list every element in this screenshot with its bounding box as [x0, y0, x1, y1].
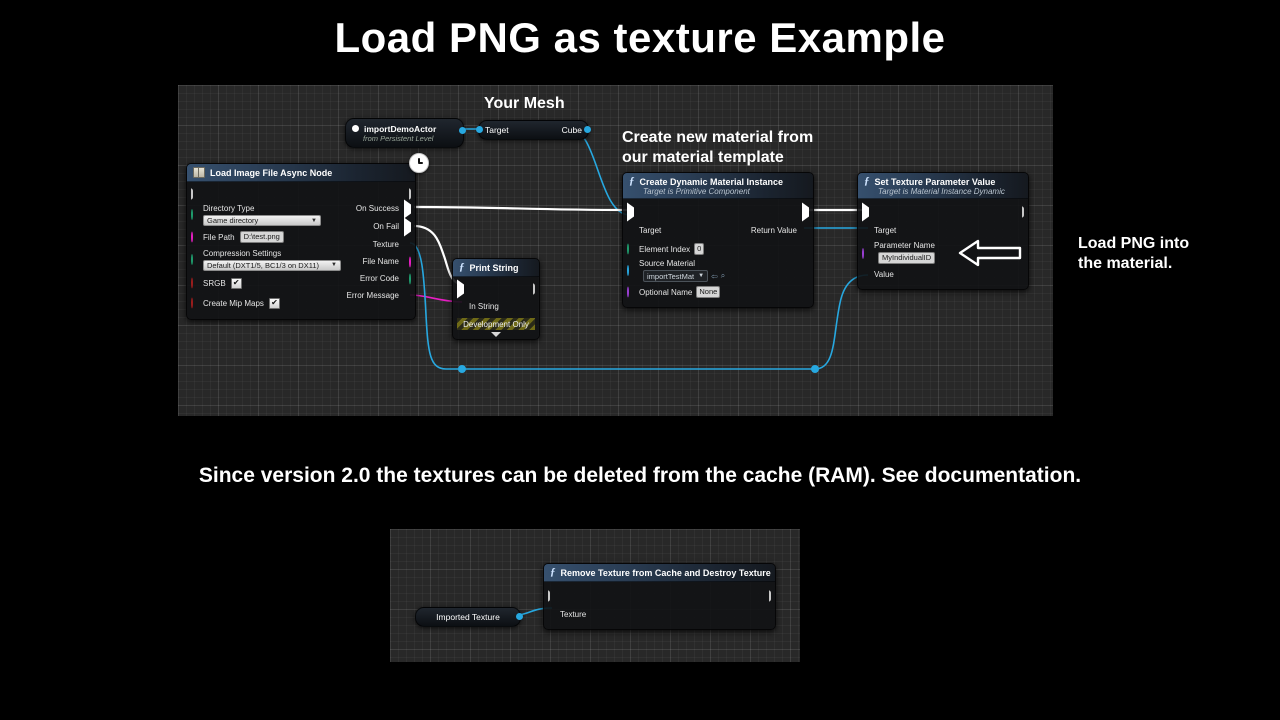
print-string-title: Print String — [470, 263, 519, 273]
cdmi-source-material-label: Source Material — [639, 259, 695, 268]
create-mip-maps-pin[interactable] — [191, 299, 193, 308]
output-row-file-name: File Name — [319, 253, 415, 270]
annotation-create-material-line1: Create new material from — [622, 128, 852, 148]
print-string-body: In String Development Only — [453, 277, 539, 339]
print-string-exec-out-pin[interactable] — [533, 285, 535, 294]
error-message-label: Error Message — [347, 291, 399, 300]
srgb-label: SRGB — [203, 279, 226, 288]
remove-texture-body: Texture — [544, 582, 775, 629]
on-fail-pin[interactable] — [404, 222, 411, 231]
print-string-exec-in-pin[interactable] — [457, 285, 464, 294]
node-create-dynamic-material-instance[interactable]: ƒ Create Dynamic Material Instance Targe… — [622, 172, 814, 308]
node-remove-texture-from-cache[interactable]: ƒ Remove Texture from Cache and Destroy … — [543, 563, 776, 630]
error-code-pin[interactable] — [409, 274, 411, 283]
cube-out-pin[interactable] — [584, 126, 591, 133]
cdmi-source-material-pin[interactable] — [627, 266, 629, 275]
create-mip-maps-label: Create Mip Maps — [203, 299, 264, 308]
file-path-label: File Path — [203, 233, 235, 242]
input-row-directory-type: Directory Type Game directory ▼ — [187, 202, 327, 228]
srgb-checkbox[interactable]: ✔ — [231, 278, 242, 289]
cdmi-target-label: Target — [623, 226, 661, 235]
imported-texture-label: Imported Texture — [436, 612, 500, 622]
white-dot-icon — [352, 125, 359, 132]
cdmi-element-index-input[interactable]: 0 — [694, 243, 704, 255]
import-demo-actor-out-pin[interactable] — [459, 127, 466, 134]
file-path-pin[interactable] — [191, 233, 193, 242]
cdmi-source-material-combo[interactable]: importTestMat ▼ — [643, 270, 708, 282]
cdmi-element-index-pin[interactable] — [627, 245, 629, 254]
set-texture-param-subtitle: Target is Material Instance Dynamic — [864, 187, 1005, 196]
set-texture-param-header: ƒ Set Texture Parameter Value Target is … — [858, 173, 1028, 199]
file-name-label: File Name — [363, 257, 399, 266]
annotation-create-material-line2: our material template — [622, 148, 852, 168]
cdmi-return-value-label: Return Value — [751, 226, 797, 235]
cube-out-label: Cube — [562, 125, 582, 135]
compression-settings-pin[interactable] — [191, 255, 193, 264]
print-string-in-string-row: In String — [453, 297, 539, 315]
compression-settings-value: Default (DXT1/5, BC1/3 on DX11) — [207, 261, 319, 270]
load-image-node-header: Load Image File Async Node — [187, 164, 415, 182]
file-name-pin[interactable] — [409, 257, 411, 266]
remove-texture-texture-row: Texture — [544, 605, 775, 623]
cube-target-label: Target — [485, 125, 509, 135]
exec-out-pin[interactable] — [409, 190, 411, 199]
on-fail-label: On Fail — [373, 222, 399, 231]
on-success-label: On Success — [356, 204, 399, 213]
function-icon: ƒ — [459, 262, 465, 273]
cdmi-exec-out-pin[interactable] — [802, 208, 809, 217]
footnote-text: Since version 2.0 the textures can be de… — [0, 464, 1280, 488]
output-row-error-code: Error Code — [319, 270, 415, 287]
annotation-load-png-line2: the material. — [1078, 254, 1268, 274]
remove-texture-exec-out-pin[interactable] — [769, 591, 771, 600]
stpv-exec-out-pin[interactable] — [1022, 208, 1024, 217]
pointer-arrow-icon — [958, 238, 1022, 268]
node-import-demo-actor[interactable]: importDemoActor from Persistent Level — [345, 118, 464, 148]
blueprint-canvas-main[interactable]: importDemoActor from Persistent Level Ta… — [178, 85, 1053, 416]
cdmi-source-material-value: importTestMat — [647, 272, 694, 281]
stpv-parameter-name-pin[interactable] — [862, 249, 864, 258]
import-demo-actor-sublabel: from Persistent Level — [352, 134, 433, 143]
create-dynamic-material-header: ƒ Create Dynamic Material Instance Targe… — [623, 173, 813, 199]
directory-type-value: Game directory — [207, 216, 258, 225]
print-string-exec-row — [453, 281, 539, 297]
annotation-load-png-line1: Load PNG into — [1078, 234, 1268, 254]
remove-texture-exec-in-pin[interactable] — [548, 591, 550, 600]
chevron-down-icon: ▼ — [311, 218, 317, 224]
cdmi-element-index-label: Element Index — [639, 245, 690, 254]
stpv-target-label: Target — [874, 226, 896, 235]
cdmi-optional-name-row: Optional Name None — [623, 283, 813, 301]
annotation-create-material: Create new material from our material te… — [622, 128, 852, 168]
cdmi-exec-in-pin[interactable] — [627, 208, 634, 217]
node-cube-component[interactable]: Target Cube — [478, 120, 589, 140]
file-path-input[interactable]: D:\test.png — [240, 231, 284, 243]
set-texture-param-title-row: ƒ Set Texture Parameter Value — [864, 176, 995, 187]
blueprint-canvas-bottom[interactable]: Imported Texture ƒ Remove Texture from C… — [390, 529, 800, 662]
annotation-your-mesh: Your Mesh — [484, 95, 565, 113]
in-string-label: In String — [469, 302, 499, 311]
srgb-pin[interactable] — [191, 279, 193, 288]
exec-in-pin[interactable] — [191, 190, 193, 199]
remove-texture-header: ƒ Remove Texture from Cache and Destroy … — [544, 564, 775, 582]
stpv-exec-in-pin[interactable] — [862, 208, 869, 217]
cdmi-target-row: Target Return Value — [623, 221, 813, 240]
remove-texture-exec-row — [544, 586, 775, 605]
input-row-srgb: SRGB ✔ — [187, 273, 327, 293]
development-only-banner: Development Only — [457, 318, 535, 330]
cdmi-element-index-row: Element Index 0 — [623, 240, 813, 258]
cube-target-in-pin[interactable] — [476, 126, 483, 133]
remove-texture-title: Remove Texture from Cache and Destroy Te… — [561, 568, 771, 578]
node-set-texture-parameter-value[interactable]: ƒ Set Texture Parameter Value Target is … — [857, 172, 1029, 290]
stpv-exec-row — [858, 203, 1028, 221]
input-row-compression-settings: Compression Settings Default (DXT1/5, BC… — [187, 246, 327, 273]
output-row-error-message: Error Message — [319, 287, 415, 304]
output-row-texture: Texture — [319, 236, 415, 253]
page-title: Load PNG as texture Example — [0, 14, 1280, 62]
create-mip-maps-checkbox[interactable]: ✔ — [269, 298, 280, 309]
create-dynamic-material-exec-row — [623, 203, 813, 221]
output-row-on-fail: On Fail — [319, 217, 415, 236]
node-imported-texture[interactable]: Imported Texture — [415, 607, 521, 627]
node-load-image-file-async[interactable]: Load Image File Async Node Directory Typ… — [186, 163, 416, 320]
function-icon: ƒ — [550, 567, 556, 578]
directory-type-label: Directory Type — [203, 204, 254, 213]
function-icon: ƒ — [629, 176, 635, 187]
annotation-load-png: Load PNG into the material. — [1078, 234, 1268, 274]
input-row-create-mip-maps: Create Mip Maps ✔ — [187, 293, 327, 313]
stpv-parameter-name-input[interactable]: MyIndividualID — [878, 252, 935, 264]
import-demo-actor-label: importDemoActor — [364, 124, 436, 134]
imported-texture-out-pin[interactable] — [516, 613, 523, 620]
cdmi-optional-name-pin[interactable] — [627, 288, 629, 297]
slide-root: Load PNG as texture Example — [0, 0, 1280, 720]
cdmi-optional-name-input[interactable]: None — [696, 286, 720, 298]
create-dynamic-material-title: Create Dynamic Material Instance — [640, 177, 784, 187]
remove-texture-texture-label: Texture — [560, 610, 586, 619]
import-demo-actor-row: importDemoActor — [352, 124, 436, 134]
collapse-arrow-icon[interactable] — [491, 332, 501, 337]
output-row-on-success: On Success — [319, 200, 415, 217]
stpv-value-label: Value — [874, 270, 894, 279]
print-string-header: ƒ Print String — [453, 259, 539, 277]
load-image-node-title: Load Image File Async Node — [210, 168, 332, 178]
directory-type-combo[interactable]: Game directory ▼ — [203, 215, 321, 226]
stpv-parameter-name-label: Parameter Name — [874, 241, 935, 250]
texture-label: Texture — [373, 240, 399, 249]
node-print-string[interactable]: ƒ Print String In String Development Onl… — [452, 258, 540, 340]
chevron-down-icon: ▼ — [698, 273, 704, 279]
cdmi-source-material-row: Source Material importTestMat ▼ ⇦ ⌕ — [623, 258, 813, 283]
error-code-label: Error Code — [360, 274, 399, 283]
clock-icon — [409, 153, 429, 173]
function-icon: ƒ — [864, 176, 870, 187]
browse-asset-icon[interactable]: ⌕ — [721, 271, 725, 281]
input-row-file-path: File Path D:\test.png — [187, 228, 327, 246]
cdmi-source-material-widget: importTestMat ▼ ⇦ ⌕ — [643, 270, 725, 282]
create-dynamic-material-title-row: ƒ Create Dynamic Material Instance — [629, 176, 783, 187]
create-dynamic-material-subtitle: Target is Primitive Component — [629, 187, 750, 196]
create-dynamic-material-body: Target Return Value Element Index 0 Sour… — [623, 199, 813, 307]
book-icon — [193, 167, 205, 178]
directory-type-pin[interactable] — [191, 210, 193, 219]
on-success-pin[interactable] — [404, 204, 411, 213]
cdmi-optional-name-label: Optional Name — [639, 288, 692, 297]
use-selected-asset-icon[interactable]: ⇦ — [711, 272, 718, 281]
compression-settings-label: Compression Settings — [203, 249, 281, 258]
load-image-node-body: Directory Type Game directory ▼ File Pat… — [187, 182, 415, 319]
set-texture-param-title: Set Texture Parameter Value — [875, 177, 996, 187]
